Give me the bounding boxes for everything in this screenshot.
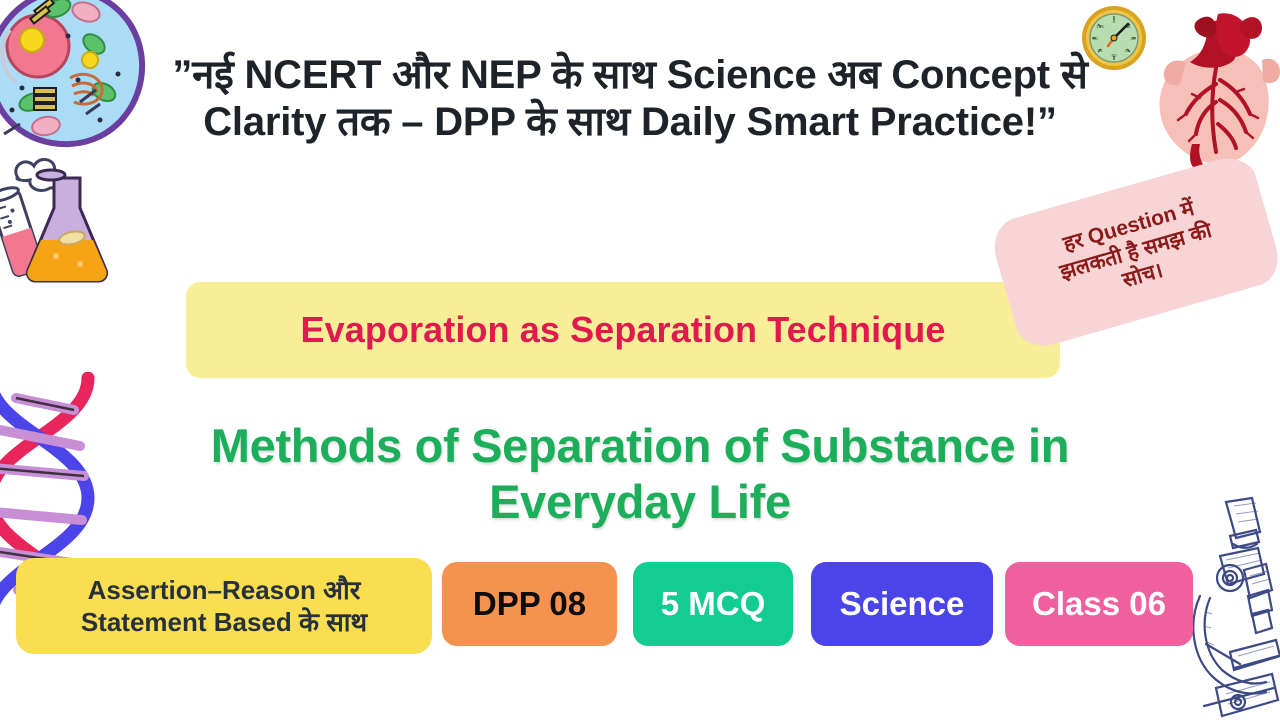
page-title: Methods of Separation of Substance in Ev… — [90, 418, 1190, 530]
badge-subject: Science — [811, 562, 993, 646]
animal-cell-icon — [0, 0, 152, 154]
topic-banner-text: Evaporation as Separation Technique — [301, 309, 946, 351]
badge-mcq-count: 5 MCQ — [633, 562, 793, 646]
page-headline: ”नई NCERT और NEP के साथ Science अब Conce… — [140, 52, 1120, 146]
topic-banner: Evaporation as Separation Technique — [186, 282, 1060, 378]
badge-row: Assertion–Reason और Statement Based के स… — [0, 556, 1280, 660]
badge-dpp: DPP 08 — [442, 562, 617, 646]
page-title-line-2: Everyday Life — [90, 474, 1190, 530]
flask-testtube-icon — [0, 158, 134, 308]
badge-assertion-line-1: Assertion–Reason और — [88, 574, 361, 606]
svg-text:30: 30 — [1130, 36, 1136, 41]
badge-class: Class 06 — [1005, 562, 1193, 646]
svg-text:90: 90 — [1092, 36, 1098, 41]
poster-canvas: 01530 456075 90105 — [0, 0, 1280, 720]
tagline-sticker: हर Question में झलकती है समझ की सोच। — [987, 151, 1280, 353]
heart-anatomy-icon — [1140, 6, 1280, 171]
svg-text:15: 15 — [1125, 24, 1131, 29]
svg-text:0: 0 — [1113, 19, 1116, 24]
svg-text:105: 105 — [1096, 24, 1104, 29]
badge-assertion-line-2: Statement Based के साथ — [81, 606, 367, 638]
badge-assertion-reason: Assertion–Reason और Statement Based के स… — [16, 558, 432, 654]
svg-text:45: 45 — [1124, 48, 1130, 53]
tagline-sticker-text: हर Question में झलकती है समझ की सोच। — [987, 151, 1280, 353]
page-title-line-1: Methods of Separation of Substance in — [90, 418, 1190, 474]
